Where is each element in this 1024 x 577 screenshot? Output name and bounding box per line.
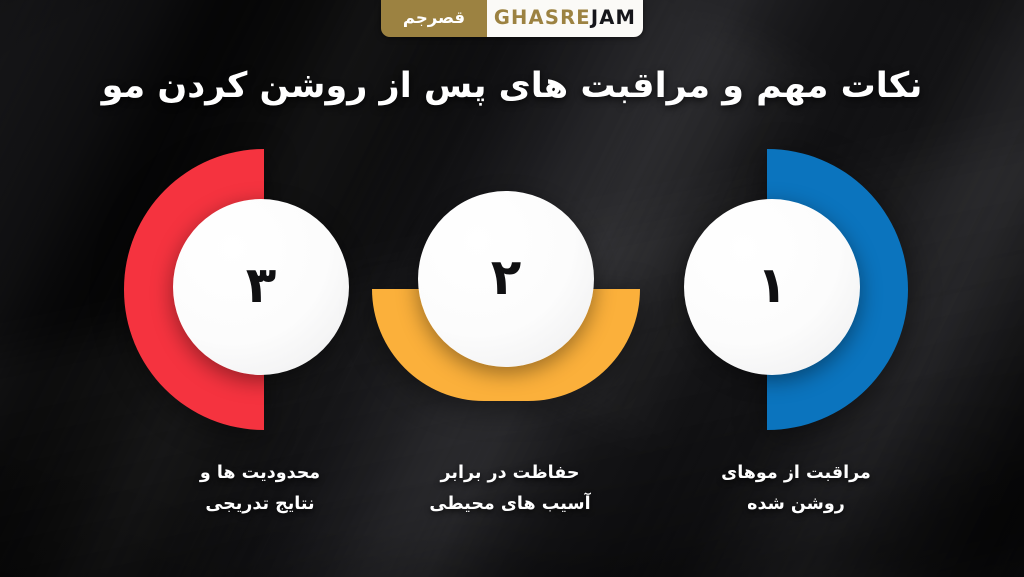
brand-logo-english-secondary: JAM: [591, 6, 636, 29]
step-2-caption-line-2: آسیب های محیطی: [360, 489, 660, 520]
step-2-number: ۲: [491, 252, 522, 306]
page-title: نکات مهم و مراقبت های پس از روشن کردن مو: [0, 66, 1024, 106]
step-3-bubble: ۳: [173, 199, 349, 375]
step-item-1: ۱: [652, 140, 952, 440]
step-2-caption: حفاظت در برابر آسیب های محیطی: [360, 458, 660, 519]
step-1-bubble: ۱: [684, 199, 860, 375]
brand-logo-english-primary: GHASRE: [494, 6, 591, 29]
brand-logo-persian: قصرجم: [381, 0, 487, 37]
step-1-caption-line-1: مراقبت از موهای: [646, 458, 946, 489]
captions-group: محدودیت ها و نتایج تدریجی حفاظت در برابر…: [0, 458, 1024, 558]
brand-logo-english: GHASREJAM: [487, 0, 643, 37]
step-3-number: ۳: [246, 260, 277, 314]
step-1-caption: مراقبت از موهای روشن شده: [646, 458, 946, 519]
step-item-2: ۲: [362, 140, 662, 440]
infographic-canvas: قصرجم GHASREJAM نکات مهم و مراقبت های پس…: [0, 0, 1024, 577]
step-1-caption-line-2: روشن شده: [646, 489, 946, 520]
step-2-bubble: ۲: [418, 191, 594, 367]
brand-logo[interactable]: قصرجم GHASREJAM: [381, 0, 643, 37]
steps-group: ۳ ۲ ۱: [0, 140, 1024, 440]
step-2-caption-line-1: حفاظت در برابر: [360, 458, 660, 489]
step-1-number: ۱: [757, 260, 788, 314]
